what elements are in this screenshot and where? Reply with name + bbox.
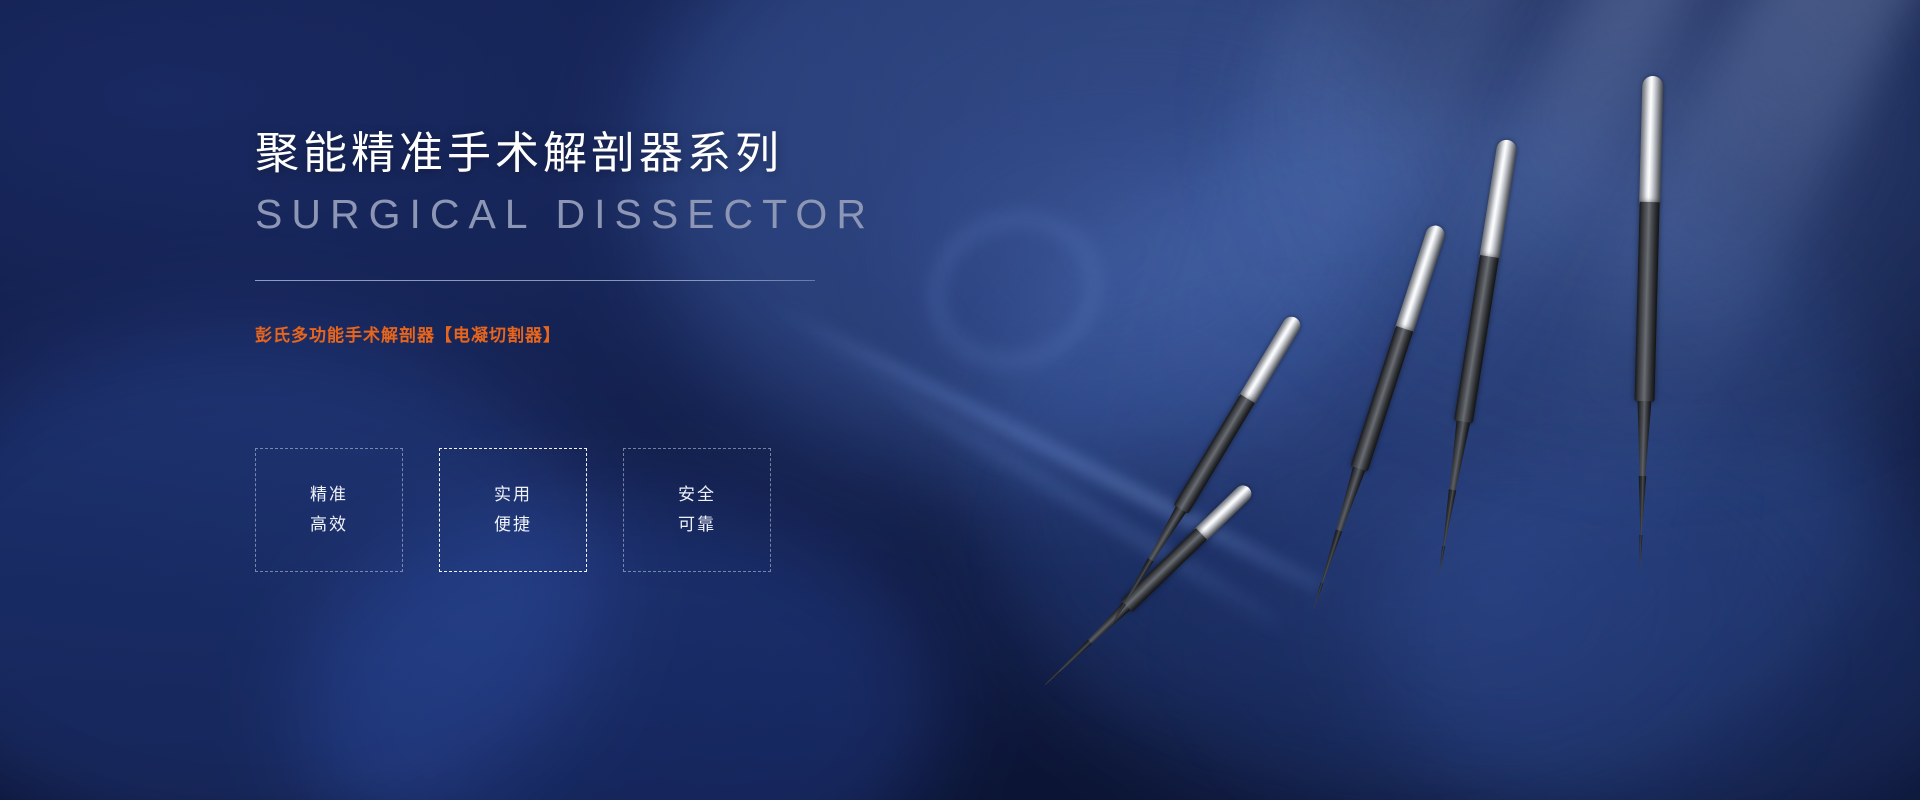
instrument-handle (1639, 76, 1663, 205)
instrument-shaft (1454, 255, 1499, 424)
feature-line-2: 可靠 (678, 510, 716, 540)
instrument-needle (1044, 670, 1060, 686)
instrument-shaft (1350, 326, 1413, 472)
instrument-handle (1395, 223, 1447, 333)
instrument-tip (1318, 529, 1343, 585)
instrument-tip (1636, 476, 1647, 536)
instrument-taper (1085, 602, 1130, 646)
instrument-needle (1639, 535, 1643, 571)
surgical-dissector-4 (1450, 138, 1521, 428)
feature-box-precision[interactable]: 精准 高效 (255, 448, 403, 572)
instrument-tip (1056, 639, 1093, 675)
page-subtitle-english: SURGICAL DISSECTOR (255, 190, 895, 239)
surgical-dissector-3 (1345, 222, 1450, 477)
page-title: 聚能精准手术解剖器系列 (255, 126, 895, 182)
product-name-label: 彭氏多功能手术解剖器【电凝切割器】 (255, 321, 895, 346)
horizontal-divider (255, 280, 815, 281)
instrument-handle (1239, 313, 1304, 405)
feature-line-1: 精准 (310, 480, 348, 510)
hero-text-block: 聚能精准手术解剖器系列 SURGICAL DISSECTOR 彭氏多功能手术解剖… (255, 126, 895, 346)
instrument-needle (1438, 546, 1446, 576)
feature-box-safety[interactable]: 安全 可靠 (623, 448, 771, 572)
instrument-taper (1333, 467, 1366, 534)
instrument-taper (1446, 420, 1471, 491)
instrument-taper (1636, 401, 1652, 477)
feature-line-1: 安全 (678, 480, 716, 510)
product-hero-banner: 聚能精准手术解剖器系列 SURGICAL DISSECTOR 彭氏多功能手术解剖… (0, 0, 1920, 800)
instrument-needle (1312, 582, 1324, 610)
surgical-dissector-5 (1632, 76, 1666, 397)
instrument-handle (1479, 138, 1518, 260)
feature-box-practical[interactable]: 实用 便捷 (439, 448, 587, 572)
instrument-shaft (1634, 202, 1659, 402)
surgical-instrument-group (0, 0, 1920, 800)
instrument-tip (1439, 489, 1457, 548)
feature-line-1: 实用 (494, 480, 532, 510)
feature-line-2: 高效 (310, 510, 348, 540)
feature-line-2: 便捷 (494, 510, 532, 540)
feature-box-group: 精准 高效 实用 便捷 安全 可靠 (255, 448, 771, 572)
